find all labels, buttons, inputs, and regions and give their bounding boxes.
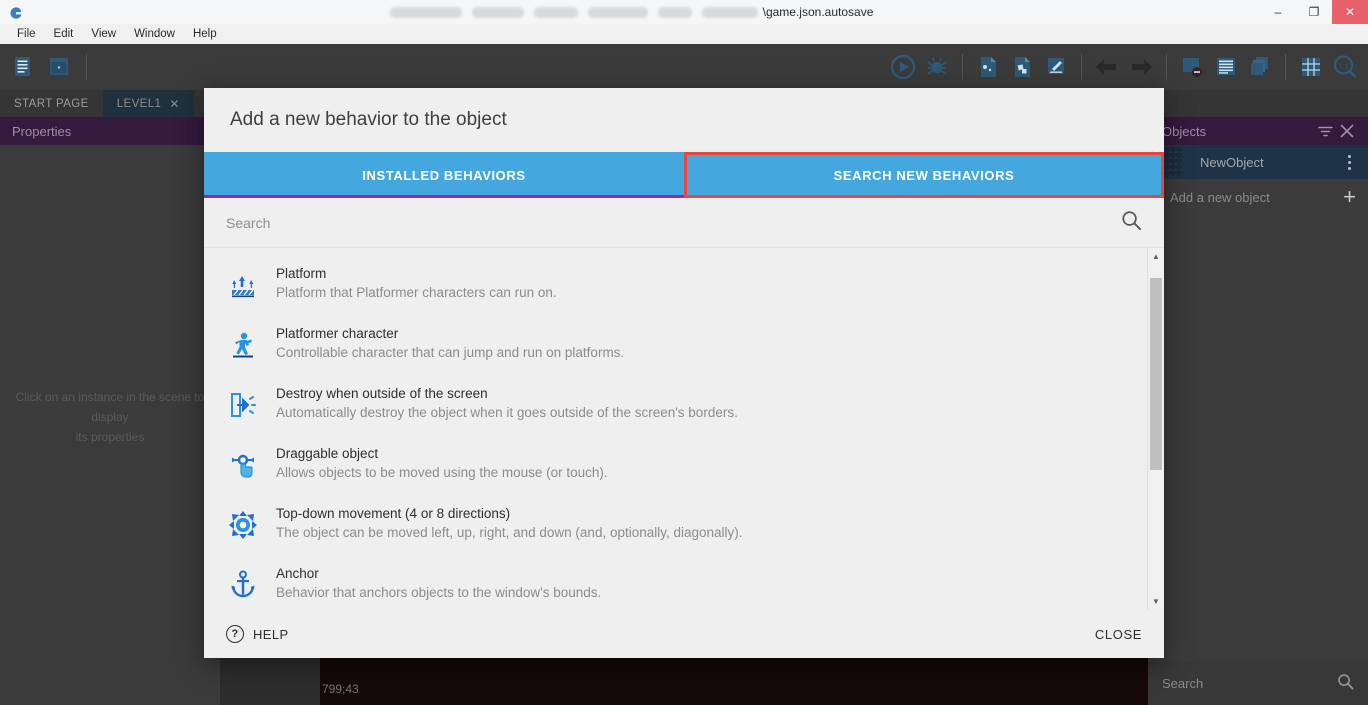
- behavior-list-scrollbar[interactable]: ▲ ▼: [1147, 248, 1164, 610]
- destroy-outside-icon: [226, 388, 260, 422]
- debug-icon[interactable]: [922, 52, 952, 82]
- behavior-description: Behavior that anchors objects to the win…: [276, 585, 601, 600]
- object-name: NewObject: [1200, 155, 1340, 170]
- menu-item-edit[interactable]: Edit: [45, 25, 83, 43]
- preview-play-icon[interactable]: [888, 52, 918, 82]
- close-dialog-button[interactable]: CLOSE: [1095, 627, 1142, 642]
- minimize-button[interactable]: –: [1260, 0, 1296, 24]
- behavior-name: Platform: [276, 266, 557, 281]
- add-external-layout-icon[interactable]: [1007, 52, 1037, 82]
- scroll-down-arrow-icon[interactable]: ▼: [1148, 593, 1164, 610]
- redacted-title-part: [472, 7, 524, 18]
- redacted-title-part: [390, 7, 462, 18]
- topdown-movement-icon: [226, 508, 260, 542]
- list-item[interactable]: Anchor Behavior that anchors objects to …: [204, 556, 1164, 610]
- list-item[interactable]: Destroy when outside of the screen Autom…: [204, 376, 1164, 436]
- redacted-title-part: [658, 7, 692, 18]
- svg-text:1:1: 1:1: [1339, 64, 1349, 71]
- behavior-description: Allows objects to be moved using the mou…: [276, 465, 608, 480]
- platform-icon: [226, 268, 260, 302]
- object-list-item-newobject[interactable]: NewObject: [1148, 145, 1368, 179]
- behavior-name: Anchor: [276, 566, 601, 581]
- toolbar-separator: [1166, 54, 1167, 80]
- redo-icon[interactable]: [1126, 52, 1156, 82]
- close-window-button[interactable]: ✕: [1332, 0, 1368, 24]
- tab-label: SEARCH NEW BEHAVIORS: [834, 168, 1015, 183]
- add-behavior-dialog: Add a new behavior to the object INSTALL…: [204, 88, 1164, 658]
- tab-level1[interactable]: LEVEL1 ✕: [103, 90, 194, 117]
- properties-panel: Properties Click on an instance in the s…: [0, 117, 220, 705]
- tab-search-new-behaviors[interactable]: SEARCH NEW BEHAVIORS: [684, 152, 1164, 198]
- menu-bar: File Edit View Window Help: [0, 24, 1368, 44]
- scrollbar-thumb[interactable]: [1150, 278, 1162, 470]
- behavior-name: Draggable object: [276, 446, 608, 461]
- menu-item-view[interactable]: View: [82, 25, 125, 43]
- objects-panel-header: Objects: [1148, 117, 1368, 145]
- toolbar-separator: [962, 54, 963, 80]
- draggable-icon: [226, 448, 260, 482]
- behavior-description: Platform that Platformer characters can …: [276, 285, 557, 300]
- scroll-up-arrow-icon[interactable]: ▲: [1148, 248, 1164, 265]
- project-manager-icon[interactable]: [44, 52, 74, 82]
- toolbar-separator: [1081, 54, 1082, 80]
- window-controls: – ❐ ✕: [1260, 0, 1368, 24]
- dialog-tab-bar: INSTALLED BEHAVIORS SEARCH NEW BEHAVIORS: [204, 152, 1164, 198]
- tab-start-page[interactable]: START PAGE: [0, 90, 103, 117]
- dialog-footer: ? HELP CLOSE: [204, 610, 1164, 658]
- hint-line-1: Click on an instance in the scene to dis…: [14, 387, 206, 427]
- layers-icon[interactable]: [1245, 52, 1275, 82]
- properties-title: Properties: [12, 124, 71, 139]
- list-item[interactable]: Draggable object Allows objects to be mo…: [204, 436, 1164, 496]
- add-new-object-button[interactable]: Add a new object +: [1148, 179, 1368, 215]
- behavior-list[interactable]: Platform Platform that Platformer charac…: [204, 248, 1164, 610]
- help-button[interactable]: ? HELP: [226, 625, 289, 643]
- behavior-name: Top-down movement (4 or 8 directions): [276, 506, 743, 521]
- add-new-object-label: Add a new object: [1170, 190, 1270, 205]
- redacted-title-part: [702, 7, 758, 18]
- objects-title: Objects: [1162, 124, 1206, 139]
- tab-label: START PAGE: [14, 98, 89, 110]
- menu-item-file[interactable]: File: [8, 25, 45, 43]
- behavior-description: The object can be moved left, up, right,…: [276, 525, 743, 540]
- undo-icon[interactable]: [1092, 52, 1122, 82]
- toolbar-right-group: 1:1: [888, 44, 1360, 90]
- platformer-character-icon: [226, 328, 260, 362]
- open-list-icon[interactable]: [1211, 52, 1241, 82]
- properties-panel-header: Properties: [0, 117, 220, 145]
- anchor-icon: [226, 568, 260, 602]
- main-toolbar: 1:1: [0, 44, 1368, 90]
- dialog-title: Add a new behavior to the object: [204, 88, 1164, 152]
- tab-installed-behaviors[interactable]: INSTALLED BEHAVIORS: [204, 152, 684, 198]
- redacted-title-part: [534, 7, 578, 18]
- list-item[interactable]: Top-down movement (4 or 8 directions) Th…: [204, 496, 1164, 556]
- tab-close-icon[interactable]: ✕: [169, 97, 179, 111]
- behavior-name: Destroy when outside of the screen: [276, 386, 738, 401]
- list-item[interactable]: Platformer character Controllable charac…: [204, 316, 1164, 376]
- plus-icon[interactable]: +: [1343, 186, 1356, 208]
- title-bar: \game.json.autosave – ❐ ✕: [0, 0, 1368, 24]
- add-scene-icon[interactable]: [973, 52, 1003, 82]
- search-icon[interactable]: [1337, 673, 1354, 693]
- search-icon[interactable]: [1121, 210, 1142, 236]
- open-project-icon[interactable]: [8, 52, 38, 82]
- menu-item-help[interactable]: Help: [184, 25, 226, 43]
- close-icon[interactable]: [1336, 124, 1358, 138]
- help-label: HELP: [253, 627, 289, 642]
- window-title-tail: \game.json.autosave: [763, 5, 874, 19]
- list-item[interactable]: Platform Platform that Platformer charac…: [204, 256, 1164, 316]
- behavior-search-bar[interactable]: [204, 198, 1164, 248]
- scene-coordinates: 799;43: [322, 682, 359, 696]
- redacted-title-part: [588, 7, 648, 18]
- add-external-events-icon[interactable]: [1041, 52, 1071, 82]
- grid-icon[interactable]: [1296, 52, 1326, 82]
- behavior-description: Controllable character that can jump and…: [276, 345, 624, 360]
- maximize-button[interactable]: ❐: [1296, 0, 1332, 24]
- zoom-reset-icon[interactable]: 1:1: [1330, 52, 1360, 82]
- behavior-description: Automatically destroy the object when it…: [276, 405, 738, 420]
- tab-label: LEVEL1: [117, 98, 162, 110]
- kebab-menu-icon[interactable]: [1340, 155, 1358, 170]
- properties-empty-hint: Click on an instance in the scene to dis…: [0, 387, 220, 447]
- help-circle-icon: ?: [226, 625, 244, 643]
- objects-search-placeholder: Search: [1162, 676, 1203, 691]
- toolbar-separator: [1285, 54, 1286, 80]
- tab-label: INSTALLED BEHAVIORS: [362, 168, 525, 183]
- menu-item-window[interactable]: Window: [125, 25, 184, 43]
- behavior-search-input[interactable]: [226, 215, 1121, 231]
- window-title: \game.json.autosave: [0, 0, 1258, 24]
- behavior-name: Platformer character: [276, 326, 624, 341]
- hide-grid-icon[interactable]: [1177, 52, 1207, 82]
- toolbar-separator: [86, 54, 87, 80]
- application-window: \game.json.autosave – ❐ ✕ File Edit View…: [0, 0, 1368, 705]
- toolbar-left-group: [0, 52, 93, 82]
- filter-icon[interactable]: [1314, 125, 1336, 138]
- objects-panel: Objects NewObject Add: [1148, 117, 1368, 705]
- hint-line-2: its properties: [14, 427, 206, 447]
- objects-search-bar[interactable]: Search: [1148, 661, 1368, 705]
